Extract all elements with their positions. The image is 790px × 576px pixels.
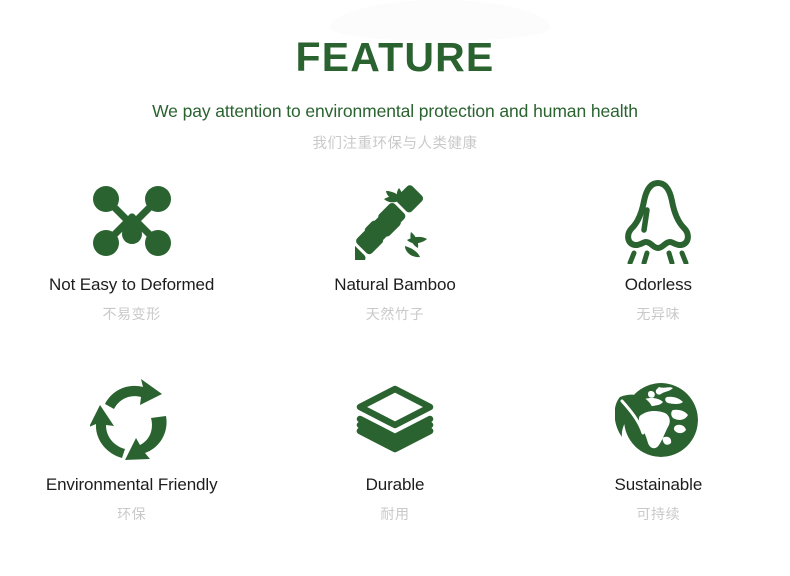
feature-label-english: Durable [366, 475, 425, 495]
feature-label-chinese: 可持续 [636, 504, 680, 524]
section-header: FEATURE We pay attention to environmenta… [0, 0, 790, 153]
feature-label-chinese: 不易变形 [102, 304, 160, 324]
molecule-nodes-icon [90, 175, 174, 267]
feature-item-sustainable: Sustainable 可持续 [527, 371, 790, 567]
recycle-icon [90, 371, 174, 467]
feature-label-chinese: 耐用 [380, 504, 409, 524]
feature-item-odorless: Odorless 无异味 [527, 175, 790, 371]
globe-leaf-icon [615, 371, 701, 467]
feature-section: FEATURE We pay attention to environmenta… [0, 0, 790, 576]
feature-label-english: Sustainable [614, 475, 702, 495]
page-title: FEATURE [0, 36, 790, 79]
feature-label-english: Odorless [625, 275, 692, 295]
feature-label-english: Natural Bamboo [334, 275, 455, 295]
subtitle-english: We pay attention to environmental protec… [0, 101, 790, 122]
feature-label-english: Environmental Friendly [46, 475, 218, 495]
feature-grid: Not Easy to Deformed 不易变形 [0, 175, 790, 567]
subtitle-chinese: 我们注重环保与人类健康 [0, 132, 790, 153]
feature-item-environmental-friendly: Environmental Friendly 环保 [0, 371, 263, 567]
feature-label-chinese: 无异味 [636, 304, 680, 324]
feature-item-durable: Durable 耐用 [263, 371, 526, 567]
feature-label-english: Not Easy to Deformed [49, 275, 214, 295]
feature-item-natural-bamboo: Natural Bamboo 天然竹子 [263, 175, 526, 371]
nose-icon [620, 175, 696, 267]
feature-label-chinese: 天然竹子 [366, 304, 424, 324]
feature-label-chinese: 环保 [117, 504, 146, 524]
feature-item-not-easy-to-deformed: Not Easy to Deformed 不易变形 [0, 175, 263, 371]
layers-icon [354, 371, 436, 467]
bamboo-icon [355, 175, 435, 267]
